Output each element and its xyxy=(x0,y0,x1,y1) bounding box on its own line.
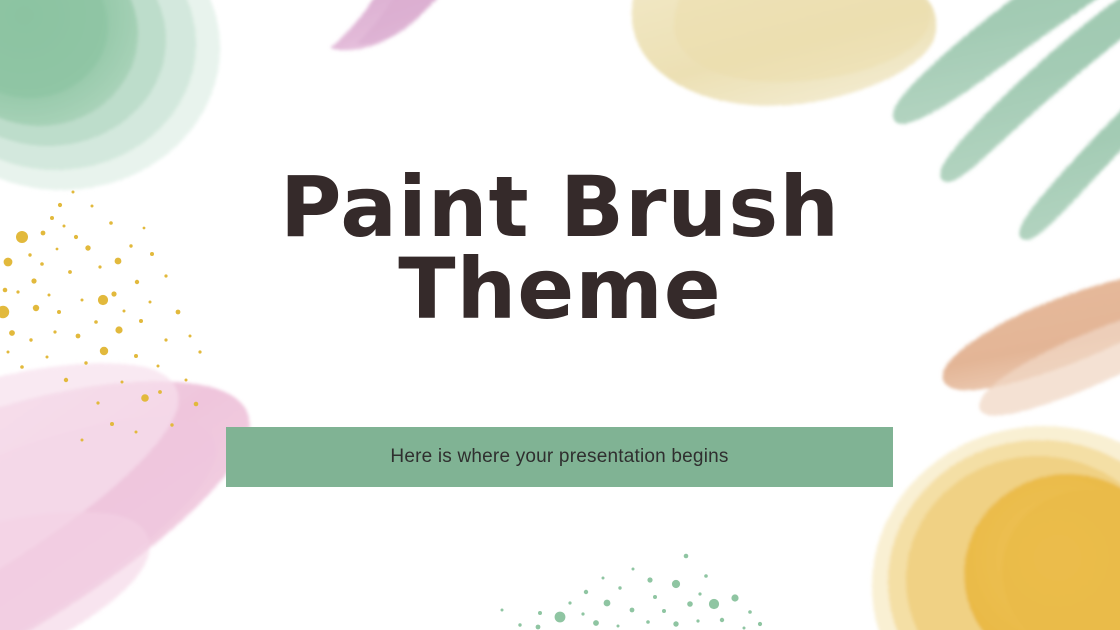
subtitle-banner: Here is where your presentation begins xyxy=(226,427,893,487)
page-title: Paint Brush Theme xyxy=(0,166,1120,331)
subtitle-text: Here is where your presentation begins xyxy=(390,446,728,468)
presentation-slide: Paint Brush Theme Here is where your pre… xyxy=(0,0,1120,630)
slide-content: Paint Brush Theme Here is where your pre… xyxy=(0,0,1120,630)
